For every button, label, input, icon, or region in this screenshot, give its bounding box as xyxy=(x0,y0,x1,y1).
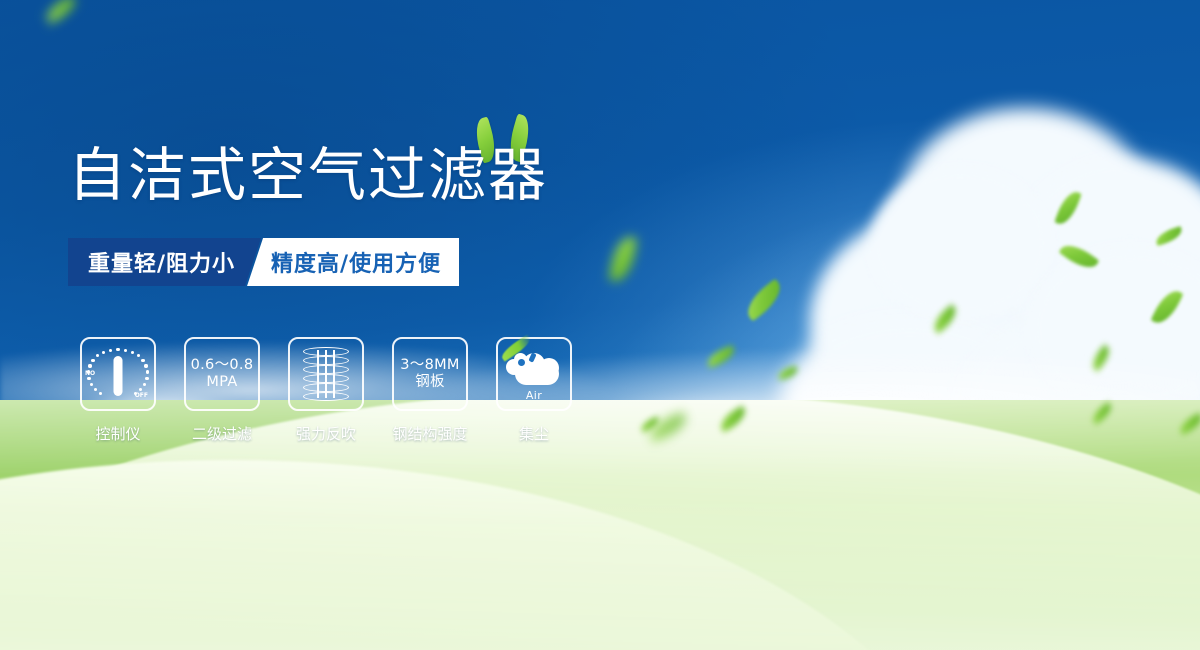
feature-icon-box: Air xyxy=(496,337,572,411)
feature-item-two-stage-filter[interactable]: 0.6～0.8 MPA 二级过滤 xyxy=(184,337,260,444)
pressure-value: 0.6～0.8 xyxy=(191,357,254,373)
gauge-icon: NO OFF xyxy=(86,344,150,404)
tagline-banner: 重量轻/阻力小 精度高/使用方便 xyxy=(68,238,460,286)
feature-caption: 二级过滤 xyxy=(192,423,252,444)
feature-caption: 集尘 xyxy=(519,423,549,444)
pressure-text-icon: 0.6～0.8 MPA xyxy=(191,357,254,390)
feature-item-steel-strength[interactable]: 3～8MM 钢板 钢结构强度 xyxy=(392,337,468,444)
feature-caption: 强力反吹 xyxy=(296,423,356,444)
coil-icon xyxy=(303,347,349,401)
pressure-unit: MPA xyxy=(191,374,254,391)
steel-plate-text-icon: 3～8MM 钢板 xyxy=(400,357,459,390)
feature-caption: 钢结构强度 xyxy=(392,423,467,444)
feature-item-controller[interactable]: NO OFF 控制仪 xyxy=(80,337,156,444)
steel-thickness: 3～8MM xyxy=(400,357,459,373)
feature-list: NO OFF 控制仪 0.6～0.8 MPA 二级过滤 xyxy=(80,337,572,444)
cloud-air-icon: Air xyxy=(505,349,563,399)
feature-item-dust-collection[interactable]: Air 集尘 xyxy=(496,337,572,444)
tagline-left: 重量轻/阻力小 xyxy=(68,238,261,286)
feature-icon-box: NO OFF xyxy=(80,337,156,411)
hero-banner-stage: 自洁式空气过滤器 重量轻/阻力小 精度高/使用方便 xyxy=(0,0,1200,650)
gauge-label-no: NO xyxy=(85,370,95,377)
hero-content: 自洁式空气过滤器 重量轻/阻力小 精度高/使用方便 xyxy=(0,0,1200,650)
gauge-label-off: OFF xyxy=(135,392,148,399)
feature-icon-box: 3～8MM 钢板 xyxy=(392,337,468,411)
tagline-right: 精度高/使用方便 xyxy=(247,238,459,286)
feature-item-reverse-blow[interactable]: 强力反吹 xyxy=(288,337,364,444)
air-label: Air xyxy=(505,389,563,402)
feature-caption: 控制仪 xyxy=(95,423,140,444)
feature-icon-box xyxy=(288,337,364,411)
steel-material: 钢板 xyxy=(400,374,459,391)
feature-icon-box: 0.6～0.8 MPA xyxy=(184,337,260,411)
page-title: 自洁式空气过滤器 xyxy=(68,146,548,204)
